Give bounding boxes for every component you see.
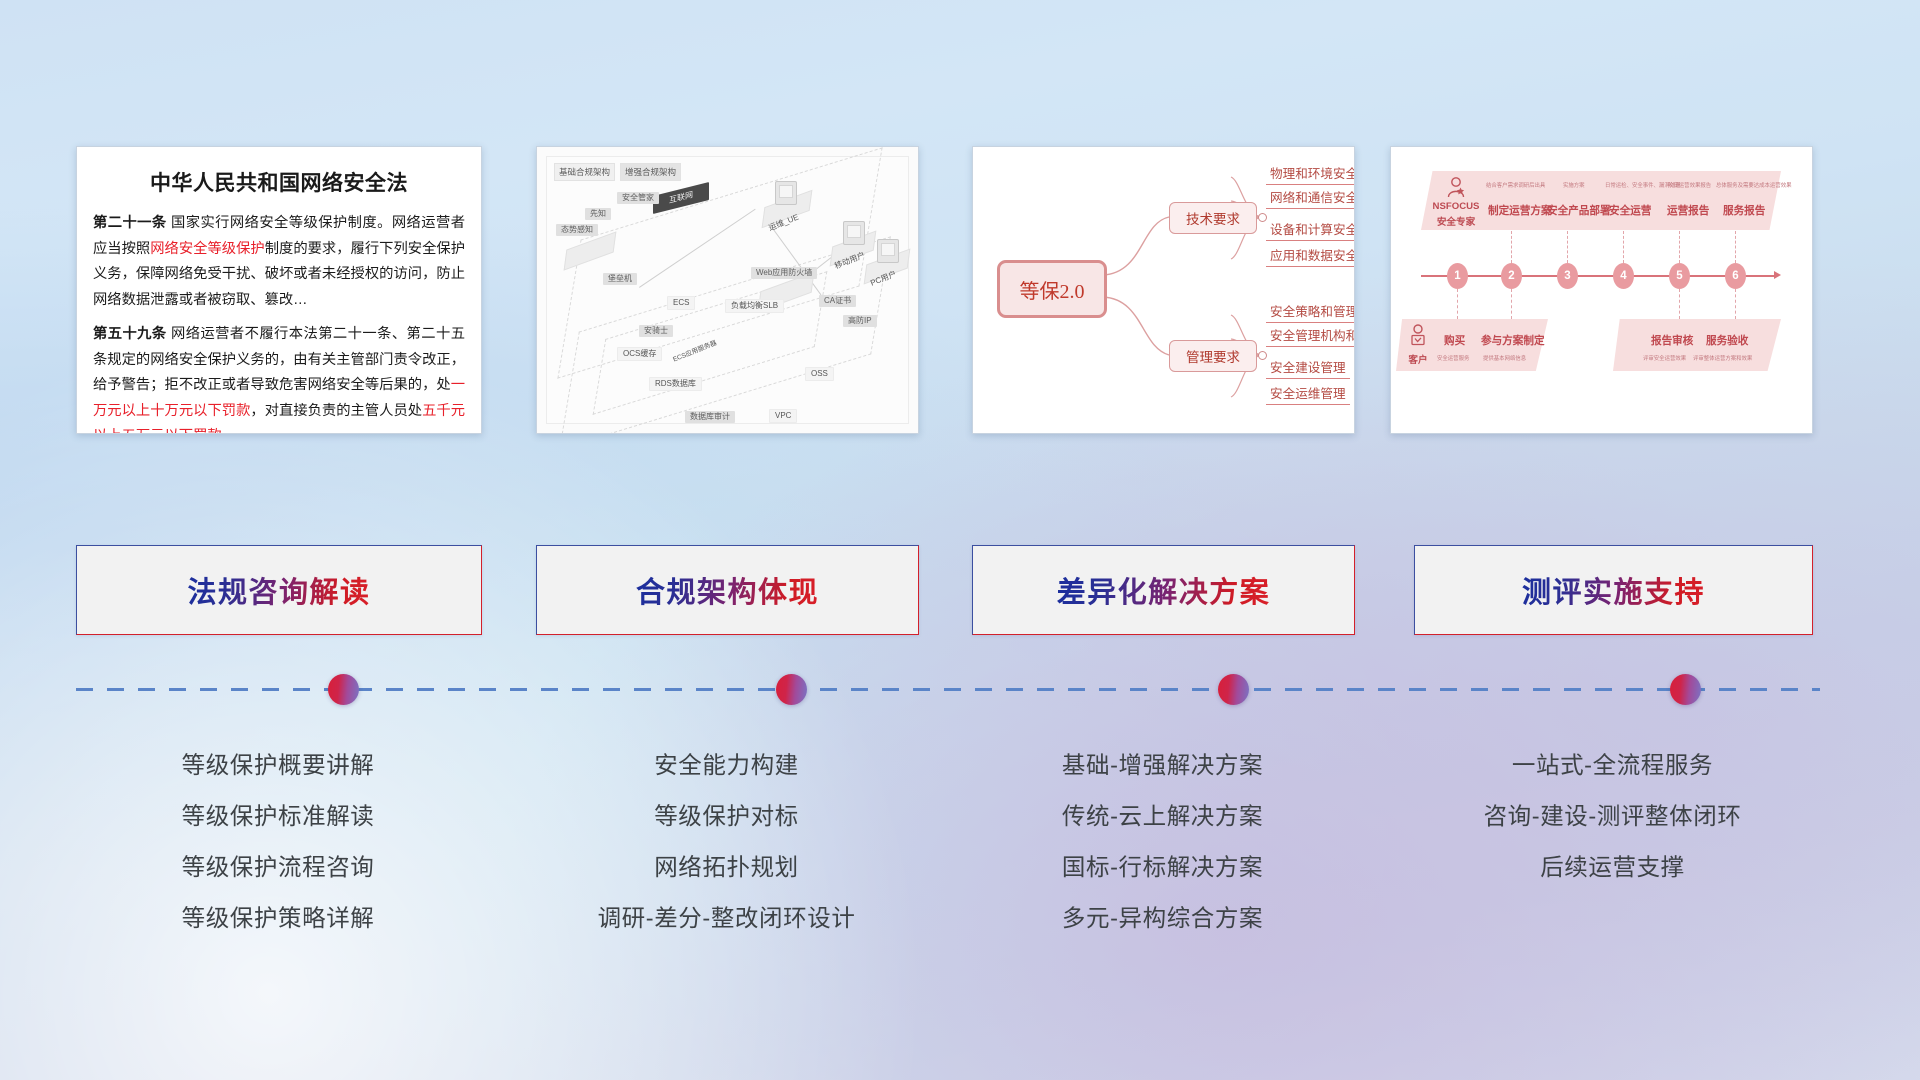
detail-item: 等级保护概要讲解 [76, 740, 480, 791]
expert-icon [1443, 175, 1469, 201]
detail-item: 安全能力构建 [536, 740, 917, 791]
card-row: 中华人民共和国网络安全法 第二十一条 国家实行网络安全等级保护制度。网络运营者应… [0, 146, 1920, 441]
axis-step-6[interactable]: 6 [1725, 263, 1746, 289]
headline-box-compliance-architecture[interactable]: 合规架构体现 [536, 545, 919, 635]
label-security-steward: 安全管家 [617, 192, 659, 204]
label-ocs-cache: OCS缓存 [617, 347, 662, 361]
note-customer-join-plan: 提供基本网络信息 [1483, 354, 1526, 362]
detail-item: 多元-异构综合方案 [972, 893, 1353, 944]
note-customer-acceptance: 评审整体运营方案和效果 [1693, 354, 1752, 362]
cube-xianzhi [599, 220, 627, 238]
mindmap-root: 等保2.0 [997, 260, 1107, 318]
screen-pc-user [877, 239, 899, 263]
expert-name: NSFOCUS [1427, 201, 1485, 212]
title-step-6: 服务报告 [1723, 203, 1765, 218]
label-oss: OSS [805, 367, 834, 381]
detail-item: 一站式-全流程服务 [1414, 740, 1811, 791]
law-article-21: 第二十一条 国家实行网络安全等级保护制度。网络运营者应当按照网络安全等级保护制度… [93, 211, 465, 313]
screen-ops-user [775, 181, 797, 205]
drop-4 [1623, 231, 1624, 263]
card-mindmap-dengbao[interactable]: 等保2.0 技术要求 物理和环境安全 网络和通信安全 设备和计算安全 应用和数据… [972, 146, 1355, 434]
label-waf: Web应用防火墙 [751, 267, 817, 279]
mindmap: 等保2.0 技术要求 物理和环境安全 网络和通信安全 设备和计算安全 应用和数据… [973, 147, 1354, 433]
cube-app-server-3 [743, 343, 771, 361]
axis-step-1[interactable]: 1 [1447, 263, 1468, 289]
detail-item: 国标-行标解决方案 [972, 842, 1353, 893]
headline-label-3: 差异化解决方案 [1057, 569, 1271, 611]
nsfocus-diagram: NSFOCUS 安全专家 结合客户需求调研后出具 制定运营方案 实施方案 安全产… [1391, 147, 1812, 433]
note-step-6: 总体服务及需要达成本运营效果 [1716, 181, 1791, 189]
drop-6 [1735, 231, 1736, 263]
title-step-4: 安全运营 [1609, 203, 1651, 218]
drop-b2 [1511, 289, 1512, 319]
title-customer-purchase: 购买 [1444, 333, 1465, 348]
detail-item: 网络拓扑规划 [536, 842, 917, 893]
detail-column-2: 安全能力构建 等级保护对标 网络拓扑规划 调研-差分-整改闭环设计 [536, 740, 917, 944]
drop-3 [1567, 231, 1568, 263]
mindmap-leaf-policy-system: 安全策略和管理制度 [1266, 305, 1355, 323]
drop-5 [1679, 231, 1680, 263]
headline-box-differentiated-solution[interactable]: 差异化解决方案 [972, 545, 1355, 635]
note-step-3: 实施方案 [1563, 181, 1585, 189]
drop-b1 [1457, 289, 1458, 319]
note-step-5: 阶段运营效果报告 [1668, 181, 1711, 189]
drop-2 [1511, 231, 1512, 263]
label-ca-cert: CA证书 [819, 295, 856, 307]
mindmap-branch-technical[interactable]: 技术要求 [1169, 202, 1257, 234]
mindmap-leaf-app-data: 应用和数据安全 [1266, 249, 1355, 267]
note-customer-report-review: 评审安全运营效果 [1643, 354, 1686, 362]
label-anqishi: 安骑士 [639, 325, 673, 337]
cube-anqishi [669, 329, 697, 347]
detail-item: 传统-云上解决方案 [972, 791, 1353, 842]
note-customer-purchase: 安全运营服务 [1437, 354, 1469, 362]
law-article-59: 第五十九条 网络运营者不履行本法第二十一条、第二十五条规定的网络安全保护义务的，… [93, 322, 465, 434]
axis-step-5[interactable]: 5 [1669, 263, 1690, 289]
mindmap-collapse-dot-technical[interactable] [1258, 213, 1267, 222]
label-vpc: VPC [769, 409, 797, 423]
article-59-text-b: ，对直接负责的主管人员处 [250, 403, 422, 419]
detail-item: 等级保护标准解读 [76, 791, 480, 842]
card-cloud-architecture[interactable]: 基础合规架构 增强合规架构 互联网 态势感知 [536, 146, 919, 434]
article-59-label: 第五十九条 [93, 326, 167, 342]
label-situational-awareness: 态势感知 [556, 224, 598, 236]
label-bastion-host: 堡垒机 [603, 273, 637, 285]
article-59-text-c: 。 [222, 428, 236, 434]
label-ecs: ECS [667, 296, 695, 310]
article-21-label: 第二十一条 [93, 215, 167, 231]
title-step-3: 安全产品部署 [1547, 203, 1611, 218]
detail-item: 咨询-建设-测评整体闭环 [1414, 791, 1811, 842]
headline-label-4: 测评实施支持 [1522, 569, 1705, 611]
mindmap-leaf-physical-env: 物理和环境安全 [1266, 167, 1355, 185]
timeline [76, 688, 1820, 692]
cube-waf [769, 279, 797, 297]
cube-app-server-4 [747, 361, 775, 379]
detail-item: 等级保护对标 [536, 791, 917, 842]
law-body: 中华人民共和国网络安全法 第二十一条 国家实行网络安全等级保护制度。网络运营者应… [77, 147, 481, 433]
customer-label: 客户 [1405, 352, 1431, 366]
drop-b5 [1679, 289, 1680, 319]
cube-slb [759, 315, 787, 333]
mindmap-collapse-dot-management[interactable] [1258, 351, 1267, 360]
mindmap-leaf-device-compute: 设备和计算安全 [1266, 223, 1355, 241]
article-21-highlight: 网络安全等级保护 [150, 241, 264, 257]
band-customer-right [1613, 319, 1781, 371]
customer-icon [1407, 323, 1429, 349]
label-high-defense-ip: 高防IP [843, 315, 877, 327]
mindmap-leaf-network-comm: 网络和通信安全 [1266, 191, 1355, 209]
title-step-5: 运营报告 [1667, 203, 1709, 218]
timeline-dot-2[interactable] [776, 674, 807, 705]
mindmap-leaf-org-personnel: 安全管理机构和人员 [1266, 329, 1355, 347]
headline-row: 法规咨询解读 合规架构体现 差异化解决方案 测评实施支持 [0, 545, 1920, 643]
tab-enhanced-architecture[interactable]: 增强合规架构 [620, 163, 681, 181]
title-customer-join-plan: 参与方案制定 [1481, 333, 1545, 348]
label-slb: 负载均衡SLB [725, 299, 784, 313]
headline-box-assessment-support[interactable]: 测评实施支持 [1414, 545, 1813, 635]
timeline-axis [1421, 275, 1776, 277]
label-db-audit: 数据库审计 [685, 411, 735, 423]
slide-canvas: 中华人民共和国网络安全法 第二十一条 国家实行网络安全等级保护制度。网络运营者应… [0, 0, 1920, 1080]
timeline-dot-3[interactable] [1218, 674, 1249, 705]
timeline-dot-4[interactable] [1670, 674, 1701, 705]
architecture-frame: 基础合规架构 增强合规架构 互联网 态势感知 [546, 156, 909, 424]
cube-situational-awareness [569, 237, 597, 255]
detail-item: 后续运营支撑 [1414, 842, 1811, 893]
cube-security-steward [631, 204, 659, 222]
title-customer-acceptance: 服务验收 [1706, 333, 1748, 348]
mindmap-leaf-construction-mgmt: 安全建设管理 [1266, 361, 1350, 379]
architecture-diagram: 基础合规架构 增强合规架构 互联网 态势感知 [537, 147, 918, 433]
detail-item: 调研-差分-整改闭环设计 [536, 893, 917, 944]
expert-role: 安全专家 [1427, 214, 1485, 228]
mindmap-leaf-ops-mgmt: 安全运维管理 [1266, 387, 1350, 405]
detail-item: 等级保护策略详解 [76, 893, 480, 944]
note-step-2: 结合客户需求调研后出具 [1486, 181, 1545, 189]
title-step-2: 制定运营方案 [1488, 203, 1552, 218]
label-rds: RDS数据库 [649, 377, 702, 391]
timeline-dot-1[interactable] [328, 674, 359, 705]
detail-item: 基础-增强解决方案 [972, 740, 1353, 791]
detail-item: 等级保护流程咨询 [76, 842, 480, 893]
headline-label-1: 法规咨询解读 [187, 569, 370, 611]
timeline-arrow-icon [1774, 271, 1781, 279]
cube-bastion-host [613, 285, 641, 303]
headline-label-2: 合规架构体现 [636, 569, 819, 611]
card-cybersecurity-law[interactable]: 中华人民共和国网络安全法 第二十一条 国家实行网络安全等级保护制度。网络运营者应… [76, 146, 482, 434]
detail-column-1: 等级保护概要讲解 等级保护标准解读 等级保护流程咨询 等级保护策略详解 [76, 740, 480, 944]
tab-basic-architecture[interactable]: 基础合规架构 [554, 163, 615, 181]
drop-b6 [1735, 289, 1736, 319]
label-xianzhi: 先知 [585, 208, 611, 220]
title-customer-report-review: 报告审核 [1651, 333, 1693, 348]
card-nsfocus-timeline[interactable]: NSFOCUS 安全专家 结合客户需求调研后出具 制定运营方案 实施方案 安全产… [1390, 146, 1813, 434]
mindmap-branch-management[interactable]: 管理要求 [1169, 340, 1257, 372]
axis-step-2[interactable]: 2 [1501, 263, 1522, 289]
axis-step-4[interactable]: 4 [1613, 263, 1634, 289]
detail-column-4: 一站式-全流程服务 咨询-建设-测评整体闭环 后续运营支撑 [1414, 740, 1811, 893]
cube-ocs-cache [637, 359, 665, 377]
detail-columns: 等级保护概要讲解 等级保护标准解读 等级保护流程咨询 等级保护策略详解 安全能力… [0, 740, 1920, 970]
axis-step-3[interactable]: 3 [1557, 263, 1578, 289]
law-title: 中华人民共和国网络安全法 [93, 167, 465, 197]
screen-mobile-user [843, 221, 865, 245]
detail-column-3: 基础-增强解决方案 传统-云上解决方案 国标-行标解决方案 多元-异构综合方案 [972, 740, 1353, 944]
headline-box-regulation-consulting[interactable]: 法规咨询解读 [76, 545, 482, 635]
